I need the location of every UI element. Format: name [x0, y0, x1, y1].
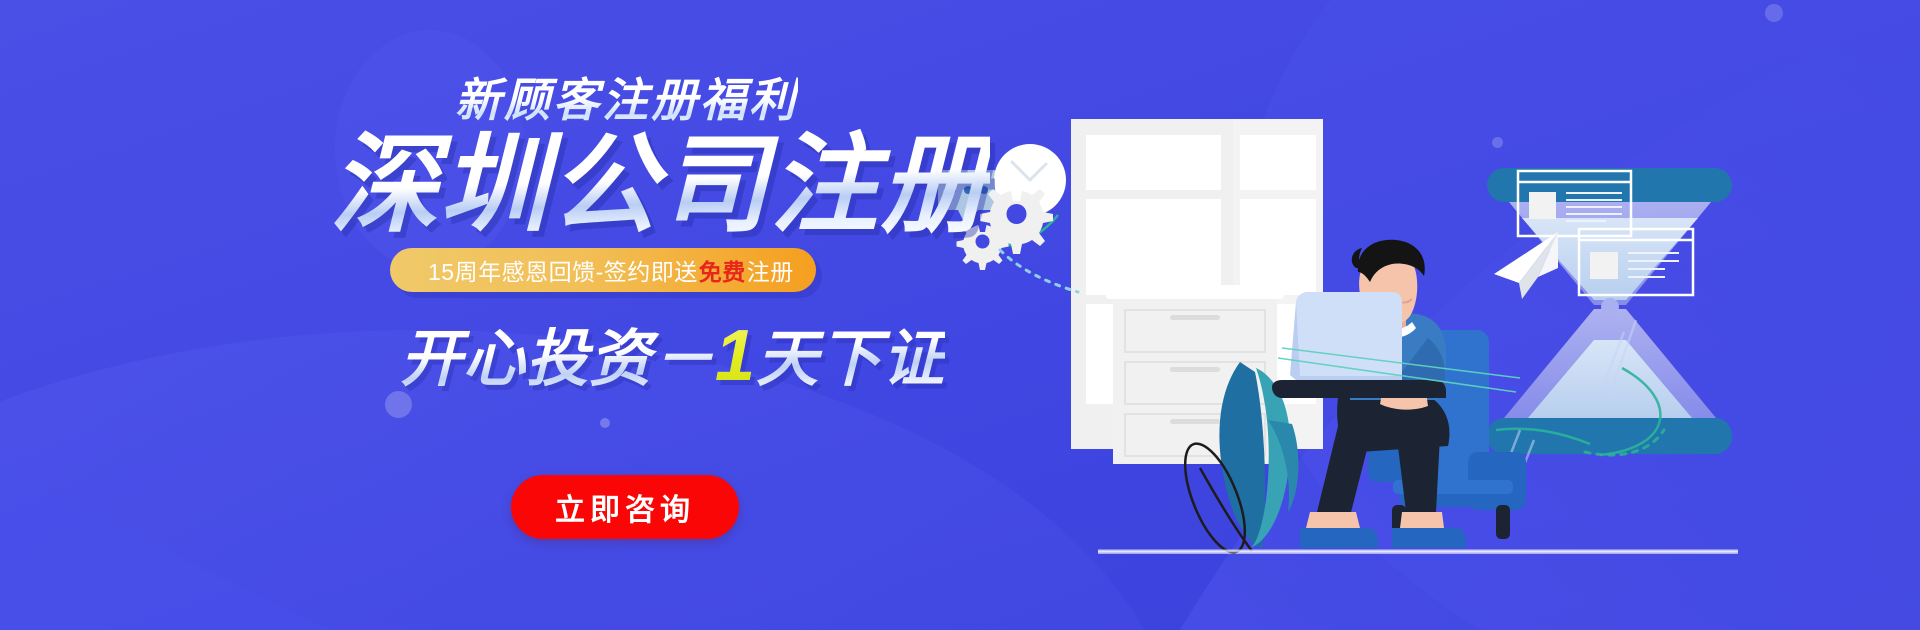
- page-title: 深圳公司注册: [330, 128, 990, 241]
- tagline-prefix: 开心投资－: [400, 325, 715, 394]
- promo-pill-prefix: 15周年感恩回馈-签约即送: [428, 253, 698, 287]
- consult-now-button[interactable]: 立即咨询: [511, 475, 739, 539]
- tagline: 开心投资－1天下证: [400, 308, 945, 398]
- promo-pill-highlight: 免费: [698, 253, 747, 287]
- promotional-banner: 新顾客注册福利 深圳公司注册 15周年感恩回馈-签约即送免费注册 开心投资－1天…: [0, 0, 1920, 630]
- text-content: 新顾客注册福利 深圳公司注册 15周年感恩回馈-签约即送免费注册 开心投资－1天…: [0, 0, 960, 630]
- hourglass-base-cap: [1487, 420, 1732, 454]
- window-pane-b: [1240, 199, 1316, 295]
- document-card-front-thumb: [1590, 252, 1618, 279]
- document-card-back-thumb: [1529, 192, 1556, 219]
- window-pane-a: [1240, 135, 1316, 190]
- promo-pill: 15周年感恩回馈-签约即送免费注册: [390, 248, 816, 292]
- paper-plane-icon: [1494, 232, 1558, 299]
- dashed-connector: [1000, 250, 1078, 292]
- promo-pill-suffix: 注册: [747, 253, 794, 287]
- eyebrow-text: 新顾客注册福利: [455, 64, 798, 130]
- tagline-suffix: 天下证: [756, 325, 945, 394]
- tagline-number: 1: [715, 316, 756, 396]
